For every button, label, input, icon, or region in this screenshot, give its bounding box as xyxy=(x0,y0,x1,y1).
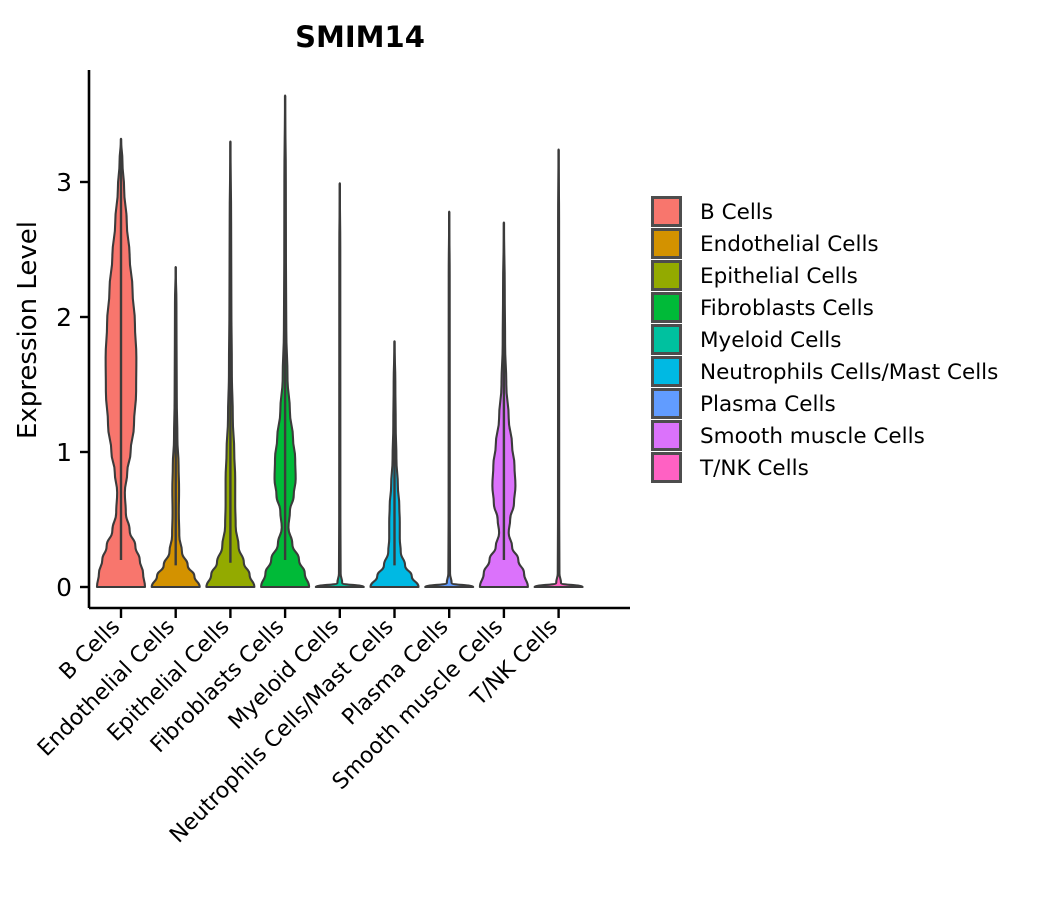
figure-background xyxy=(0,0,1057,900)
legend-label: Smooth muscle Cells xyxy=(700,424,925,449)
legend-label: T/NK Cells xyxy=(699,456,809,481)
legend-label: Plasma Cells xyxy=(700,392,836,417)
y-tick-label: 2 xyxy=(56,303,72,332)
legend-swatch[interactable] xyxy=(653,390,681,418)
legend-swatch[interactable] xyxy=(653,326,681,354)
legend-label: B Cells xyxy=(700,200,773,225)
legend-label: Fibroblasts Cells xyxy=(700,296,874,321)
legend-label: Myeloid Cells xyxy=(700,328,841,353)
legend-swatch[interactable] xyxy=(653,262,681,290)
legend-swatch[interactable] xyxy=(653,230,681,258)
legend-swatch[interactable] xyxy=(653,198,681,226)
legend-swatch[interactable] xyxy=(653,422,681,450)
legend-label: Endothelial Cells xyxy=(700,232,879,257)
legend-item[interactable]: Neutrophils Cells/Mast Cells xyxy=(653,358,999,386)
legend-item[interactable]: T/NK Cells xyxy=(653,454,809,482)
legend-item[interactable]: Plasma Cells xyxy=(653,390,836,418)
legend-swatch[interactable] xyxy=(653,358,681,386)
y-tick-label: 3 xyxy=(56,168,72,197)
figure-canvas: SMIM14 Expression Level 0123 B CellsEndo… xyxy=(0,0,1057,900)
chart-title: SMIM14 xyxy=(295,20,425,54)
y-tick-label: 1 xyxy=(56,438,72,467)
legend-item[interactable]: B Cells xyxy=(653,198,773,226)
legend-item[interactable]: Myeloid Cells xyxy=(653,326,842,354)
y-tick-label: 0 xyxy=(56,573,72,602)
violin-plot-figure: SMIM14 Expression Level 0123 B CellsEndo… xyxy=(0,0,1057,900)
legend-label: Epithelial Cells xyxy=(700,264,858,289)
y-axis-title: Expression Level xyxy=(13,221,43,439)
legend-swatch[interactable] xyxy=(653,454,681,482)
legend-label: Neutrophils Cells/Mast Cells xyxy=(700,360,998,385)
legend-swatch[interactable] xyxy=(653,294,681,322)
